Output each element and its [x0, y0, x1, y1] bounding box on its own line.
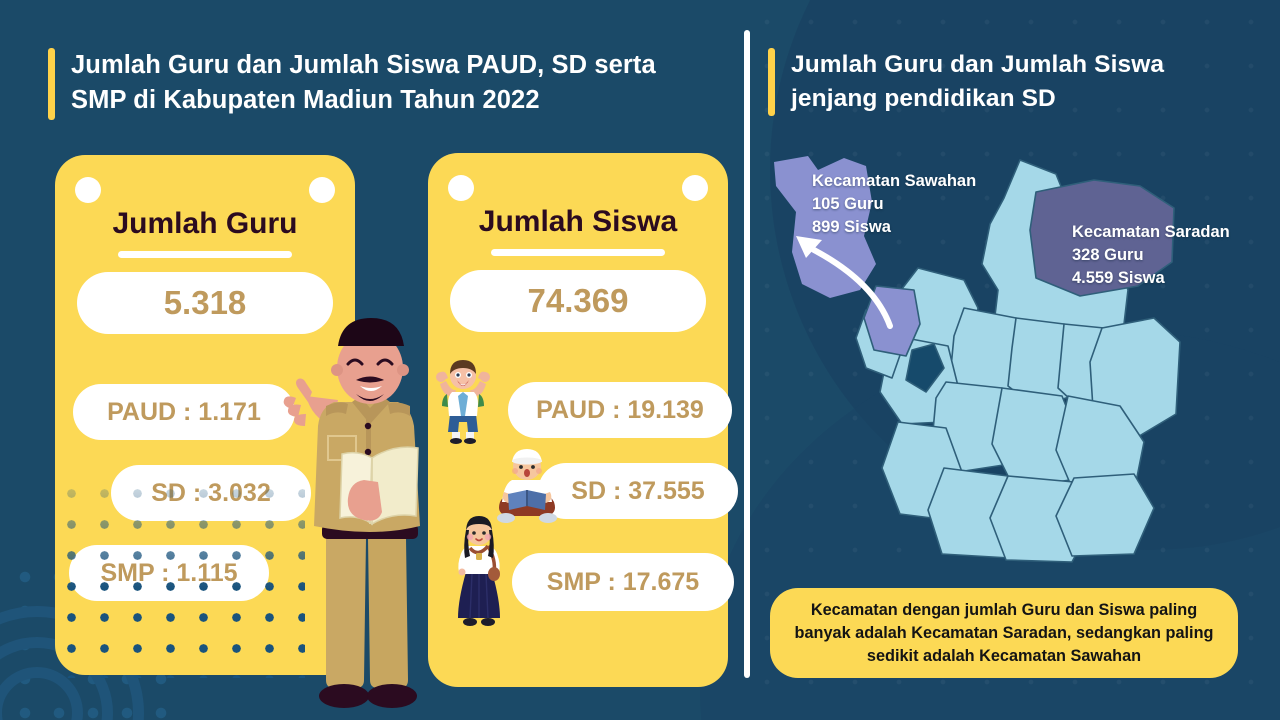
- card-siswa-title: Jumlah Siswa: [428, 205, 728, 239]
- panel-divider: [744, 30, 750, 678]
- left-panel-title: Jumlah Guru dan Jumlah Siswa PAUD, SD se…: [48, 48, 708, 120]
- saradan-name: Kecamatan Saradan: [1072, 221, 1230, 244]
- title-accent-bar: [48, 48, 55, 120]
- infographic-canvas: Jumlah Guru dan Jumlah Siswa PAUD, SD se…: [0, 0, 1280, 720]
- right-title-text: Jumlah Guru dan Jumlah Siswa jenjang pen…: [791, 48, 1238, 116]
- guru-paud-value: PAUD : 1.171: [73, 384, 295, 440]
- right-panel-title: Jumlah Guru dan Jumlah Siswa jenjang pen…: [768, 48, 1238, 116]
- sawahan-siswa: 899 Siswa: [812, 216, 976, 239]
- student-paud-illustration-icon: [432, 358, 494, 444]
- siswa-smp-value: SMP : 17.675: [512, 553, 734, 611]
- title-accent-bar: [768, 48, 775, 116]
- card-corner-dot-right: [309, 177, 335, 203]
- map-label-saradan: Kecamatan Saradan 328 Guru 4.559 Siswa: [1072, 221, 1230, 290]
- card-title-underline: [118, 251, 292, 258]
- left-title-text: Jumlah Guru dan Jumlah Siswa PAUD, SD se…: [71, 48, 708, 118]
- card-corner-dot-right: [682, 175, 708, 201]
- siswa-paud-value: PAUD : 19.139: [508, 382, 732, 438]
- map-caption-text: Kecamatan dengan jumlah Guru dan Siswa p…: [786, 599, 1222, 668]
- district-region: [1056, 474, 1154, 556]
- card-title-underline: [491, 249, 665, 256]
- card-guru-title: Jumlah Guru: [55, 207, 355, 241]
- student-smp-illustration-icon: [448, 512, 510, 630]
- sawahan-guru: 105 Guru: [812, 193, 976, 216]
- siswa-sd-value: SD : 37.555: [538, 463, 738, 519]
- card-corner-dot-left: [75, 177, 101, 203]
- siswa-total-value: 74.369: [450, 270, 706, 332]
- map-caption-box: Kecamatan dengan jumlah Guru dan Siswa p…: [770, 588, 1238, 678]
- map-label-sawahan: Kecamatan Sawahan 105 Guru 899 Siswa: [812, 170, 976, 239]
- card-corner-dot-left: [448, 175, 474, 201]
- sawahan-name: Kecamatan Sawahan: [812, 170, 976, 193]
- saradan-guru: 328 Guru: [1072, 244, 1230, 267]
- saradan-siswa: 4.559 Siswa: [1072, 267, 1230, 290]
